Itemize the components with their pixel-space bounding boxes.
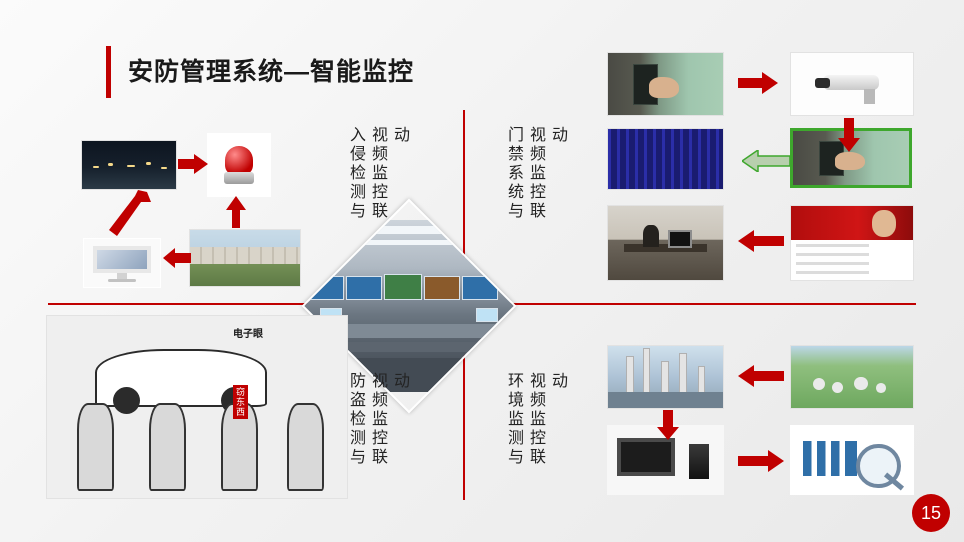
chart-art (791, 426, 913, 494)
label-line: 动 (391, 372, 408, 391)
video-wall-screen (384, 274, 422, 300)
camera-lens (815, 78, 830, 88)
label-line: 视频监控联 (369, 372, 386, 467)
person-art (643, 225, 659, 247)
fence-art (190, 230, 300, 286)
cartoon-figure (149, 403, 186, 491)
chimney (679, 353, 687, 393)
alarm-dome (225, 146, 252, 175)
alarm-base (224, 172, 254, 183)
label-access-control-3: 动 (547, 126, 568, 145)
label-theft-detection: 防盗检测与 (345, 372, 366, 467)
image-perimeter-fence (189, 229, 301, 287)
label-theft-detection-2: 视频监控联 (367, 372, 388, 467)
image-chart-magnifier (790, 425, 914, 495)
ceiling-light (318, 240, 500, 245)
label-line: 动 (549, 372, 566, 391)
label-access-control: 门禁系统与 (503, 126, 524, 221)
video-wall-screen (462, 276, 498, 300)
light-dot (161, 167, 167, 169)
news-art (791, 206, 913, 280)
arrow-left-2 (163, 248, 191, 268)
page-number-badge: 15 (912, 494, 950, 532)
label-line: 视频监控联 (527, 372, 544, 467)
image-office-monitoring (607, 205, 724, 281)
storage-tank (813, 378, 825, 390)
label-access-control-2: 视频监控联 (525, 126, 546, 221)
night-art (82, 141, 176, 189)
arrow-right-3 (738, 450, 784, 472)
tv-art (617, 438, 675, 476)
imac-art (84, 239, 160, 287)
video-wall-screen (424, 276, 460, 300)
light-dot (146, 162, 151, 165)
park-art (791, 346, 913, 408)
news-text-lines (796, 244, 869, 275)
image-red-alarm (207, 133, 271, 197)
video-wall-screen (308, 276, 344, 300)
arrow-right-2 (178, 154, 208, 174)
factory-art (608, 346, 723, 408)
storage-tank (854, 377, 867, 390)
cartoon-figure (287, 403, 324, 491)
operator-monitor (476, 308, 498, 322)
arrow-left-3 (738, 365, 784, 387)
light-dot (108, 163, 113, 166)
pc-tower-art (689, 444, 710, 479)
factory-ground (608, 392, 723, 408)
image-factory-chimneys (607, 345, 724, 409)
camera-mount (864, 89, 875, 104)
slide-canvas: 安防管理系统—智能监控 入侵检测与 视频监控联 动 门禁系统与 视频 (0, 0, 964, 542)
page-title: 安防管理系统—智能监控 (128, 52, 414, 88)
storage-tank (832, 382, 843, 393)
arrow-diagonal-1 (107, 190, 153, 242)
circuit-art (608, 129, 723, 189)
storage-tank (876, 383, 886, 393)
cartoon-label-eye: 电子眼 (233, 325, 263, 340)
access-panel-art (608, 53, 723, 115)
ceiling-light (302, 226, 517, 234)
cartoon-figure (77, 403, 114, 491)
arrow-left-1 (738, 230, 784, 252)
label-line: 动 (391, 126, 408, 145)
image-access-control-hand (607, 52, 724, 116)
hand-art (649, 77, 679, 98)
chimney (643, 348, 651, 393)
chart-bars (803, 441, 857, 476)
camera-body (823, 75, 879, 90)
chimney (626, 356, 634, 393)
alarm-art (208, 134, 270, 196)
office-art (608, 206, 723, 280)
label-line: 动 (549, 126, 566, 145)
image-theft-cartoon: 电子眼 窃东西 (46, 315, 348, 499)
label-line: 环境监测与 (505, 372, 522, 467)
news-face (872, 210, 896, 237)
image-security-camera (790, 52, 914, 116)
light-dot (127, 165, 135, 167)
image-news-website (790, 205, 914, 281)
title-accent-bar (106, 46, 111, 98)
hand-art (835, 152, 865, 170)
label-line: 门禁系统与 (505, 126, 522, 221)
arrow-down-1 (838, 118, 860, 152)
label-intrusion-detection-2: 视频监控联 (367, 126, 388, 221)
label-intrusion-detection-3: 动 (389, 126, 410, 145)
camera-art (791, 53, 913, 115)
video-wall-screen (346, 276, 382, 300)
image-industrial-park (790, 345, 914, 409)
label-environment-monitoring-2: 视频监控联 (525, 372, 546, 467)
image-imac-monitor (83, 238, 161, 288)
label-environment-monitoring: 环境监测与 (503, 372, 524, 467)
cartoon-sign: 窃东西 (233, 385, 248, 419)
label-intrusion-detection: 入侵检测与 (345, 126, 366, 221)
arrow-left-highlight (742, 150, 790, 172)
fence-wall (190, 247, 300, 264)
cartoon-art: 电子眼 窃东西 (47, 316, 347, 498)
image-night-scene (81, 140, 177, 190)
image-circuit-board (607, 128, 724, 190)
imac-foot (108, 279, 135, 282)
label-environment-monitoring-3: 动 (547, 372, 568, 391)
label-line: 视频监控联 (527, 126, 544, 221)
arrow-right-1 (738, 72, 778, 94)
desk-art (624, 244, 707, 251)
label-line: 防盗检测与 (347, 372, 364, 467)
cartoon-wheel (113, 387, 140, 414)
label-theft-detection-3: 动 (389, 372, 410, 391)
light-dot (93, 166, 99, 168)
label-line: 入侵检测与 (347, 126, 364, 221)
monitor-art (668, 230, 693, 249)
chimney (698, 366, 706, 393)
chimney (661, 361, 669, 393)
arrow-down-2 (657, 410, 679, 440)
arrow-up-1 (226, 196, 246, 228)
imac-screen (93, 246, 151, 273)
label-line: 视频监控联 (369, 126, 386, 221)
